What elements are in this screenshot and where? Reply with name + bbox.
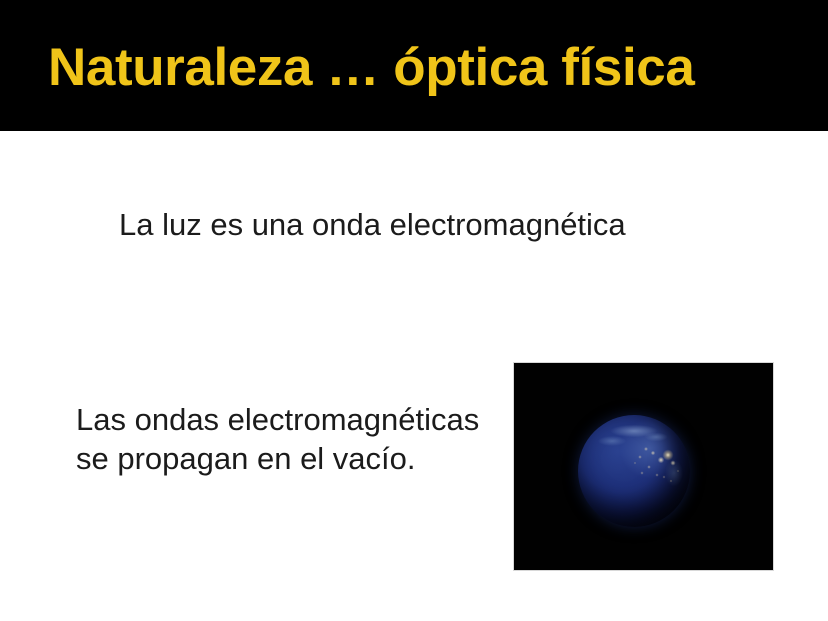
- body-text-block-1: La luz es una onda electromagnética: [119, 205, 626, 244]
- page-title: Naturaleza … óptica física: [48, 38, 694, 98]
- earth-city-lights: [578, 415, 690, 527]
- earth-at-night-photo: [514, 363, 773, 570]
- earth-globe: [578, 415, 690, 527]
- earth-cloud-layer: [578, 415, 690, 527]
- earth-terminator-shadow: [578, 415, 690, 527]
- presentation-slide: Naturaleza … óptica física La luz es una…: [0, 0, 828, 621]
- body-text-block-2: Las ondas electromagnéticas se propagan …: [76, 400, 479, 478]
- title-band: Naturaleza … óptica física: [0, 0, 828, 131]
